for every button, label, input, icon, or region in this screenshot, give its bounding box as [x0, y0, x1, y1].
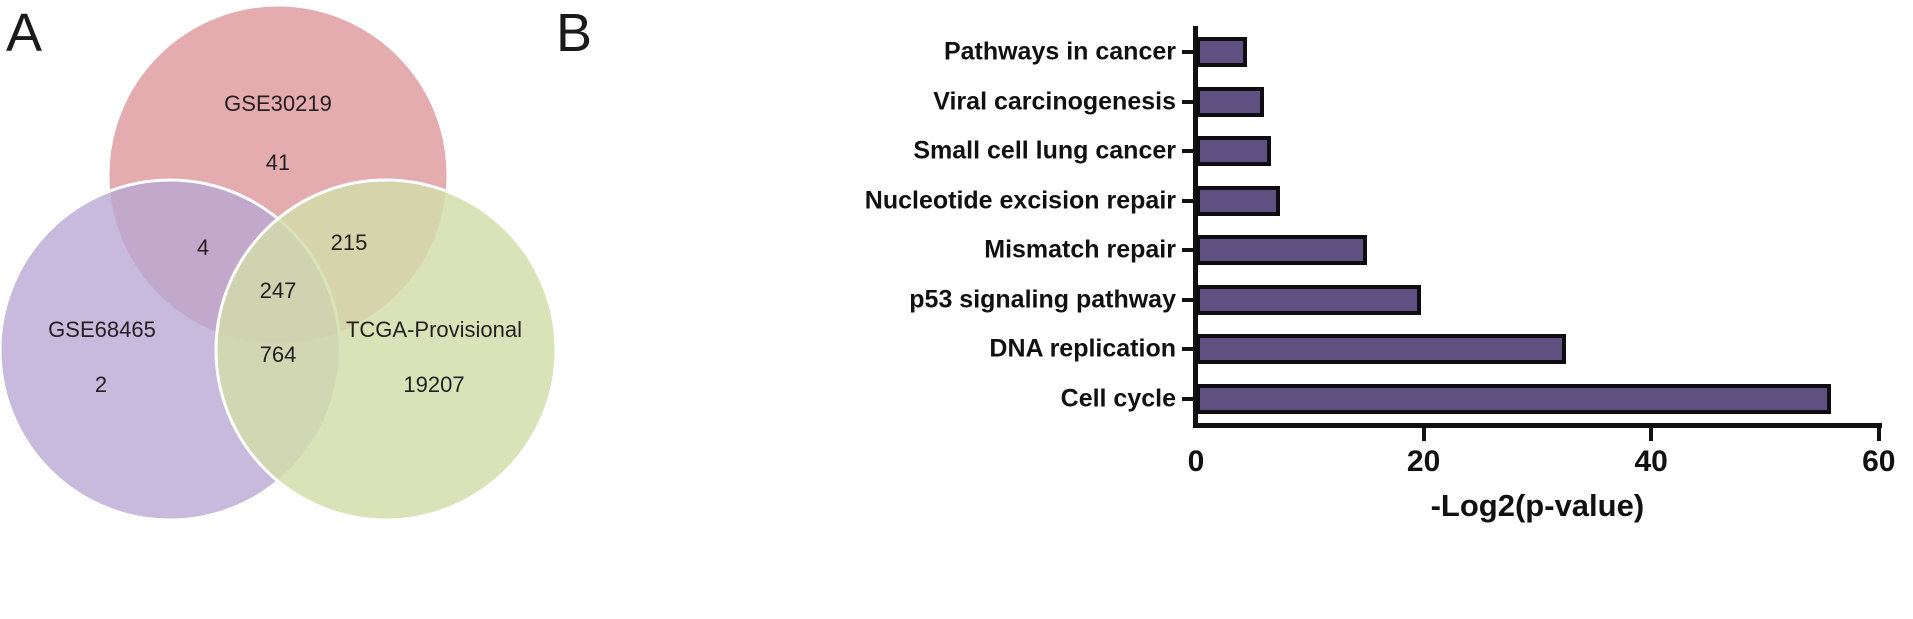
- venn-count-gse30219-only: 41: [266, 150, 290, 176]
- x-tick-label-60: 60: [1862, 445, 1895, 479]
- x-tick-label-40: 40: [1635, 445, 1668, 479]
- y-tick-mark: [1182, 50, 1195, 54]
- bar-p53-signaling-pathway: [1196, 285, 1421, 315]
- y-axis-label-dna-replication: DNA replication: [989, 337, 1176, 362]
- x-tick-mark: [1877, 428, 1881, 441]
- bar-mismatch-repair: [1196, 235, 1367, 265]
- y-axis-label-pathways-in-cancer: Pathways in cancer: [944, 40, 1176, 65]
- y-axis-label-nucleotide-excision-repair: Nucleotide excision repair: [865, 188, 1176, 213]
- venn-label-gse30219: GSE30219: [224, 91, 332, 117]
- bar-nucleotide-excision-repair: [1196, 186, 1280, 216]
- bar-cell-cycle: [1196, 384, 1831, 414]
- venn-count-gse68465-only: 2: [95, 372, 107, 398]
- venn-label-tcga: TCGA-Provisional: [346, 317, 522, 343]
- y-axis-label-p53-signaling-pathway: p53 signaling pathway: [909, 287, 1176, 312]
- x-tick-mark: [1649, 428, 1653, 441]
- venn-count-gse68465-tcga: 764: [260, 342, 297, 368]
- y-axis-label-mismatch-repair: Mismatch repair: [984, 238, 1176, 263]
- y-tick-mark: [1182, 347, 1195, 351]
- y-axis-label-cell-cycle: Cell cycle: [1061, 386, 1176, 411]
- x-axis-title: -Log2(p-value): [1431, 488, 1645, 524]
- y-tick-mark: [1182, 397, 1195, 401]
- bar-pathways-in-cancer: [1196, 37, 1247, 67]
- venn-label-gse68465: GSE68465: [48, 317, 156, 343]
- venn-count-all-three: 247: [260, 278, 297, 304]
- bar-small-cell-lung-cancer: [1196, 136, 1271, 166]
- venn-count-gse30219-gse68465: 4: [197, 235, 209, 261]
- bar-chart-plot-area: Pathways in cancerViral carcinogenesisSm…: [556, 0, 1913, 619]
- y-tick-mark: [1182, 298, 1195, 302]
- venn-count-tcga-only: 19207: [403, 372, 464, 398]
- panel-b-bar-chart: B Pathways in cancerViral carcinogenesis…: [556, 0, 1913, 619]
- y-tick-mark: [1182, 149, 1195, 153]
- y-axis-label-viral-carcinogenesis: Viral carcinogenesis: [933, 89, 1176, 114]
- y-tick-mark: [1182, 100, 1195, 104]
- x-tick-mark: [1422, 428, 1426, 441]
- bar-dna-replication: [1196, 334, 1566, 364]
- x-axis-line: [1193, 423, 1882, 428]
- venn-count-gse30219-tcga: 215: [331, 230, 368, 256]
- y-axis-label-small-cell-lung-cancer: Small cell lung cancer: [913, 139, 1176, 164]
- panel-a-venn-diagram: A GSE30219 GSE68465 TCGA-Provisional 41 …: [0, 0, 556, 619]
- y-tick-mark: [1182, 248, 1195, 252]
- bar-viral-carcinogenesis: [1196, 87, 1264, 117]
- y-tick-mark: [1182, 199, 1195, 203]
- x-tick-label-20: 20: [1407, 445, 1440, 479]
- figure-root: A GSE30219 GSE68465 TCGA-Provisional 41 …: [0, 0, 1913, 619]
- x-tick-label-0: 0: [1188, 445, 1205, 479]
